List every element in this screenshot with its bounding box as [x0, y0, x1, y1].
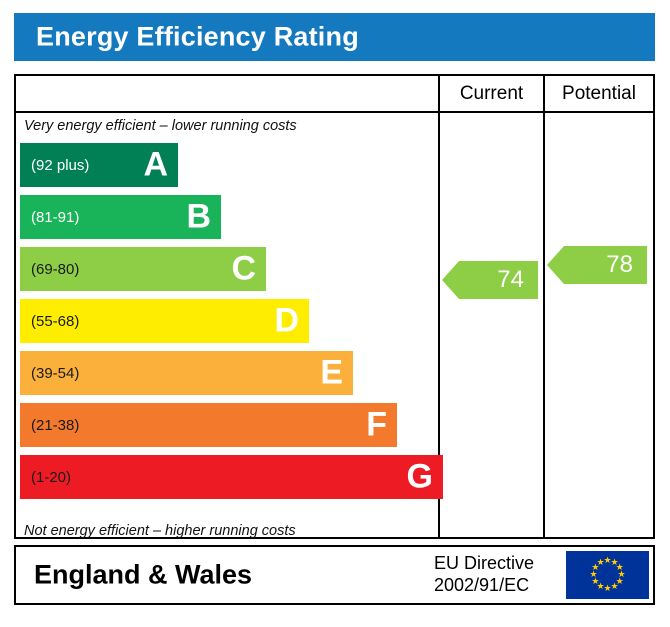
band-letter-e: E — [320, 355, 343, 389]
band-letter-a: A — [143, 147, 168, 181]
band-a: (92 plus)A — [20, 143, 178, 187]
directive-label: EU Directive 2002/91/EC — [434, 553, 534, 597]
band-g: (1-20)G — [20, 455, 443, 499]
band-b: (81-91)B — [20, 195, 221, 239]
rating-arrow-potential: 78 — [547, 246, 647, 284]
band-range-e: (39-54) — [31, 365, 79, 382]
band-range-a: (92 plus) — [31, 157, 89, 174]
band-range-b: (81-91) — [31, 209, 79, 226]
band-f: (21-38)F — [20, 403, 397, 447]
directive-line-1: EU Directive — [434, 553, 534, 575]
header-cell-current: Current — [438, 76, 543, 111]
band-e: (39-54)E — [20, 351, 353, 395]
band-letter-f: F — [366, 407, 387, 441]
eu-flag-icon: ★★★★★★★★★★★★ — [566, 551, 649, 599]
band-letter-b: B — [186, 199, 211, 233]
caption-very-efficient: Very energy efficient – lower running co… — [24, 118, 297, 134]
band-d: (55-68)D — [20, 299, 309, 343]
band-c: (69-80)C — [20, 247, 266, 291]
header-cell-blank — [16, 76, 438, 111]
band-range-c: (69-80) — [31, 261, 79, 278]
rating-value-potential: 78 — [606, 253, 633, 277]
band-range-f: (21-38) — [31, 417, 79, 434]
column-divider-potential — [543, 113, 545, 537]
rating-arrow-current: 74 — [442, 261, 538, 299]
header-cell-potential: Potential — [543, 76, 653, 111]
band-list: (92 plus)A(81-91)B(69-80)C(55-68)D(39-54… — [20, 143, 434, 518]
band-letter-g: G — [407, 459, 433, 493]
epc-certificate: Energy Efficiency Rating Current Potenti… — [0, 0, 670, 627]
band-letter-d: D — [274, 303, 299, 337]
band-range-g: (1-20) — [31, 469, 71, 486]
region-label: England & Wales — [34, 560, 252, 591]
page-title: Energy Efficiency Rating — [36, 22, 359, 53]
band-letter-c: C — [231, 251, 256, 285]
caption-not-efficient: Not energy efficient – higher running co… — [24, 523, 296, 539]
title-banner: Energy Efficiency Rating — [14, 13, 655, 61]
directive-line-2: 2002/91/EC — [434, 575, 534, 597]
rating-value-current: 74 — [497, 268, 524, 292]
footer-bar: England & Wales EU Directive 2002/91/EC … — [14, 545, 655, 605]
rating-table: Current Potential Very energy efficient … — [14, 74, 655, 539]
table-header-row: Current Potential — [16, 76, 653, 113]
band-range-d: (55-68) — [31, 313, 79, 330]
